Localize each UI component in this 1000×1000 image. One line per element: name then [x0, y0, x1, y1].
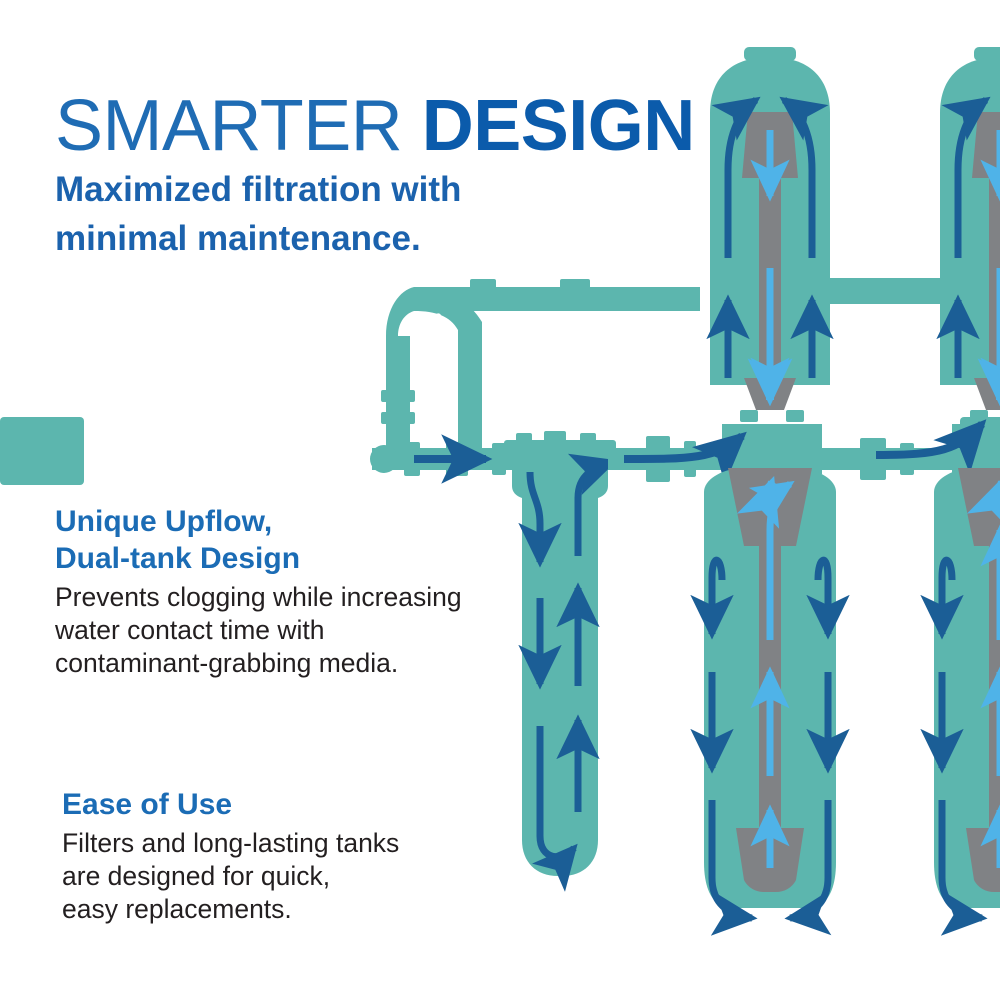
- page-title: SMARTER DESIGN: [55, 86, 695, 166]
- page-title-light: SMARTER: [55, 86, 402, 166]
- page-title-bold: DESIGN: [422, 86, 695, 166]
- body-line-1: Prevents clogging while increasing: [55, 582, 462, 612]
- crossover-pipe-upper: [826, 278, 946, 304]
- body-line-2: are designed for quick,: [62, 861, 330, 891]
- text-column: SMARTER DESIGN Maximized filtration with…: [0, 0, 540, 1000]
- heading-line-1: Unique Upflow,: [55, 505, 272, 538]
- section-unique-upflow: Unique Upflow, Dual-tank Design Prevents…: [55, 503, 525, 680]
- heading-line-2: Dual-tank Design: [55, 542, 300, 575]
- section-heading-unique-upflow: Unique Upflow, Dual-tank Design: [55, 503, 525, 577]
- body-line-3: easy replacements.: [62, 894, 292, 924]
- section-body-unique-upflow: Prevents clogging while increasing water…: [55, 581, 525, 680]
- body-line-2: water contact time with: [55, 615, 325, 645]
- body-line-1: Filters and long-lasting tanks: [62, 828, 399, 858]
- manifold-interconnect-pipe: [814, 438, 964, 480]
- heading-line-1: Ease of Use: [62, 788, 232, 821]
- body-line-3: contaminant-grabbing media.: [55, 648, 398, 678]
- section-ease-of-use: Ease of Use Filters and long-lasting tan…: [62, 786, 512, 926]
- infographic-page: SMARTER DESIGN Maximized filtration with…: [0, 0, 1000, 1000]
- page-subtitle: Maximized filtration with minimal mainte…: [55, 165, 525, 263]
- section-body-ease-of-use: Filters and long-lasting tanks are desig…: [62, 827, 512, 926]
- section-heading-ease-of-use: Ease of Use: [62, 786, 512, 823]
